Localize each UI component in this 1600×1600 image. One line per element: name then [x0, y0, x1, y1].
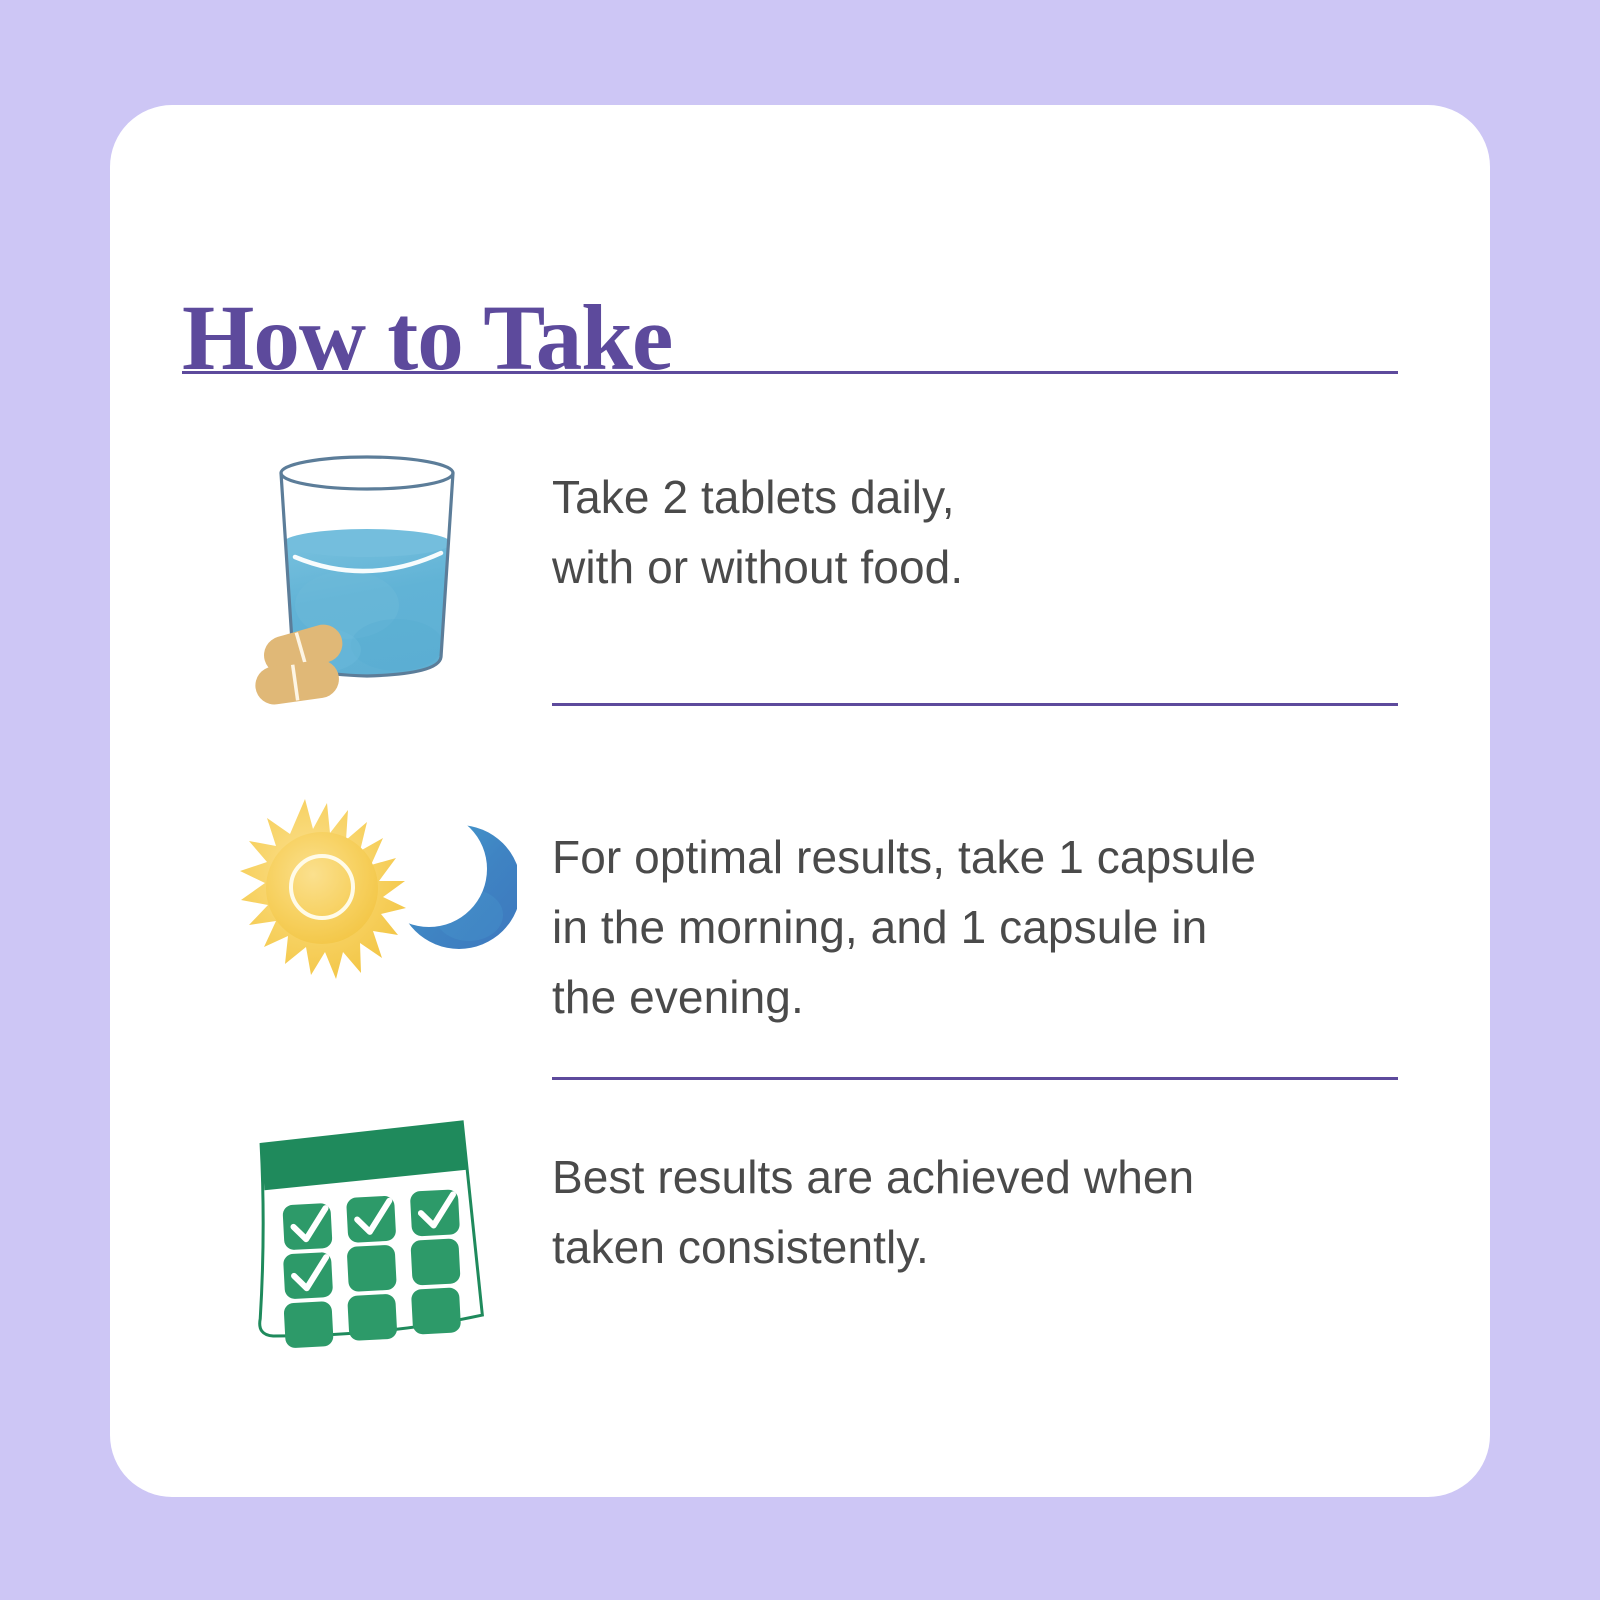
title-underline: [182, 371, 1398, 374]
glass-of-water-with-capsules-icon: [182, 435, 552, 705]
instruction-line: taken consistently.: [552, 1213, 1398, 1283]
row-divider: [552, 703, 1398, 706]
calendar-with-checkmarks-icon: [182, 1115, 552, 1360]
instruction-line: Take 2 tablets daily,: [552, 463, 1398, 533]
instruction-text-1: Take 2 tablets daily, with or without fo…: [552, 435, 1398, 603]
instruction-text-3: Best results are achieved when taken con…: [552, 1115, 1398, 1283]
instruction-line: in the morning, and 1 capsule in: [552, 893, 1398, 963]
instruction-text-2: For optimal results, take 1 capsule in t…: [552, 795, 1398, 1033]
instruction-line: with or without food.: [552, 533, 1398, 603]
row-divider: [552, 1077, 1398, 1080]
how-to-take-card: How to Take: [110, 105, 1490, 1497]
instruction-line: the evening.: [552, 963, 1398, 1033]
instruction-line: Best results are achieved when: [552, 1143, 1398, 1213]
instruction-row-2: For optimal results, take 1 capsule in t…: [182, 795, 1398, 1033]
crescent-moon: [387, 815, 517, 965]
sun-and-moon-icon: [182, 795, 552, 980]
instruction-row-3: Best results are achieved when taken con…: [182, 1115, 1398, 1360]
poster-canvas: How to Take: [0, 0, 1600, 1600]
instruction-row-1: Take 2 tablets daily, with or without fo…: [182, 435, 1398, 705]
instruction-line: For optimal results, take 1 capsule: [552, 823, 1398, 893]
